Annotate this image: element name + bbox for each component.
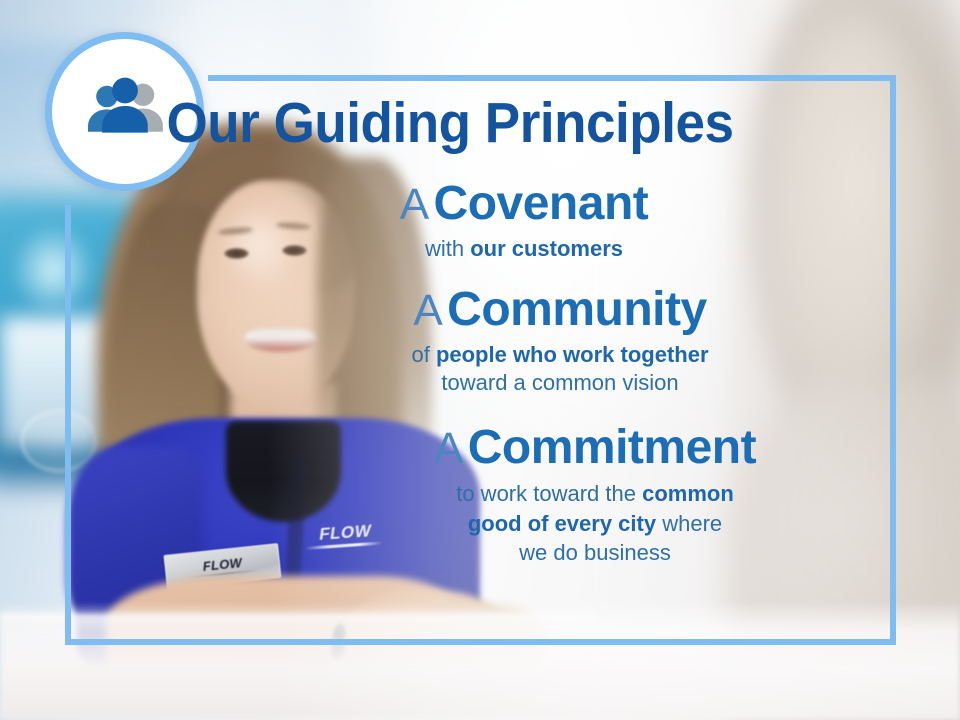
principle-article: A (413, 286, 442, 335)
principle-covenant: A Covenant with our customers (168, 180, 880, 264)
principle-covenant-subtext: with our customers (168, 235, 880, 264)
vehicle-highlight (10, 223, 96, 317)
desk-surface (0, 605, 960, 720)
subtext-line2-bold: good of every city (468, 511, 656, 536)
principle-community-subtext: of people who work together toward a com… (240, 341, 880, 398)
guiding-principles-graphic: FLOW FLOW (0, 0, 960, 720)
principle-article: A (400, 180, 429, 229)
principle-commitment-heading: A Commitment (310, 424, 880, 473)
principles-list: A Covenant with our customers A Communit… (150, 180, 880, 580)
subtext-bold: our customers (470, 236, 623, 261)
principle-keyword: Community (447, 283, 707, 336)
subtext-line2: toward a common vision (441, 370, 678, 395)
principle-community: A Community of people who work together … (240, 286, 880, 398)
subtext-line1-plain: of (411, 342, 435, 367)
principle-article: A (434, 424, 463, 473)
principle-keyword: Covenant (434, 177, 649, 230)
principle-commitment-subtext: to work toward the common good of every … (310, 479, 880, 569)
subtext-line1-plain: to work toward the (456, 481, 642, 506)
subtext-line1-bold: people who work together (436, 342, 709, 367)
principle-keyword: Commitment (468, 421, 756, 474)
subtext-line3: we do business (519, 540, 671, 565)
subtext-line2-plain: where (656, 511, 722, 536)
principle-community-heading: A Community (240, 286, 880, 335)
subtext-plain: with (425, 236, 470, 261)
subtext-line1-bold: common (642, 481, 734, 506)
principle-covenant-heading: A Covenant (168, 180, 880, 229)
page-title: Our Guiding Principles (32, 95, 869, 152)
principle-commitment: A Commitment to work toward the common g… (310, 424, 880, 569)
